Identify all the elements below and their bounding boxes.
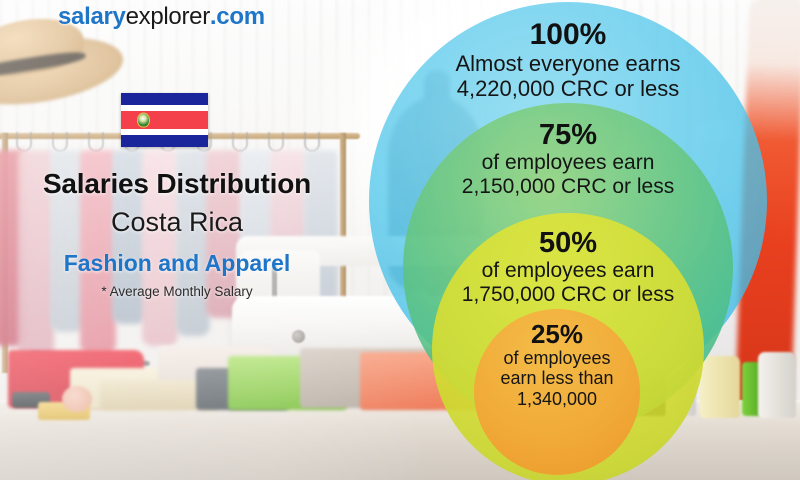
bubble-75-line1: of employees earn xyxy=(482,151,655,175)
infographic-canvas: salaryexplorer.com Salaries Distribution… xyxy=(0,0,800,480)
bubble-50-percent-value: 50% xyxy=(539,229,597,259)
bubble-50-line2: 1,750,000 CRC or less xyxy=(462,283,674,307)
bubble-75-percent-value: 75% xyxy=(539,121,597,151)
bubble-50-line1: of employees earn xyxy=(482,259,655,283)
bubble-75-line2: 2,150,000 CRC or less xyxy=(462,175,674,199)
bubble-25-line3: 1,340,000 xyxy=(517,389,597,410)
bubble-100-line1: Almost everyone earns xyxy=(456,51,681,76)
bubble-25-line1: of employees xyxy=(503,348,610,369)
percentile-bubble-chart: 100% Almost everyone earns 4,220,000 CRC… xyxy=(0,0,800,480)
bubble-25-percent[interactable]: 25% of employees earn less than 1,340,00… xyxy=(474,309,640,475)
bubble-100-line2: 4,220,000 CRC or less xyxy=(457,76,680,101)
bubble-25-line2: earn less than xyxy=(500,368,613,389)
bubble-100-percent-value: 100% xyxy=(530,20,607,51)
bubble-25-percent-value: 25% xyxy=(531,321,583,348)
